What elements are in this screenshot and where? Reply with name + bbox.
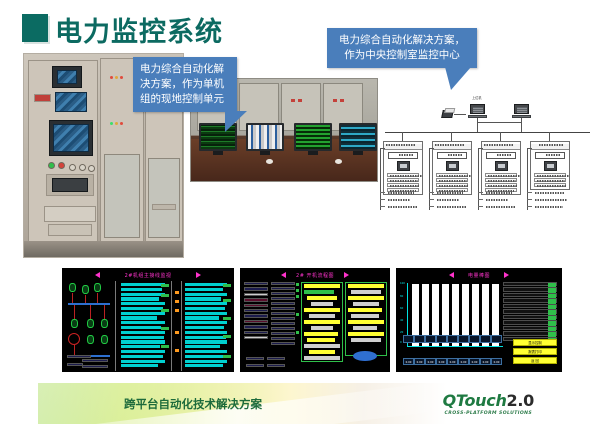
lcu-node <box>432 141 472 195</box>
qtouch-logo: QTouch2.0 CROSS-PLATFORM SOLUTIONS <box>443 391 534 416</box>
table-cell: 0.00 <box>403 358 414 365</box>
slide-canvas: 电力监控系统 <box>0 0 600 438</box>
display-control-button[interactable]: 显示控制 <box>513 339 557 346</box>
next-page-arrow-icon[interactable] <box>344 272 349 278</box>
printer-icon <box>441 110 454 118</box>
list-item <box>503 287 557 291</box>
slide-header: 电力监控系统 <box>0 6 600 46</box>
list-item <box>503 304 557 308</box>
page-title: 电力监控系统 <box>55 10 223 49</box>
host-computer-icon <box>468 104 487 118</box>
hmi-screen-bar-chart[interactable]: 电量棒图 100 80 60 40 20 0 <box>396 268 562 372</box>
chart-ytick: 80 <box>400 295 403 298</box>
list-item <box>503 298 557 302</box>
callout-local-text: 电力综合自动化解决方案，作为单机组的现地控制单元 <box>140 63 224 105</box>
hmi-mid-button[interactable] <box>246 357 264 360</box>
hmi-left-button[interactable] <box>67 355 91 358</box>
table-cell: 0.00 <box>447 358 458 365</box>
hmi-right-title: 电量棒图 <box>397 272 561 279</box>
callout-tail <box>225 111 247 132</box>
list-item <box>503 331 557 335</box>
list-item <box>503 282 557 286</box>
table-cell: 0.00 <box>469 358 480 365</box>
next-page-arrow-icon[interactable] <box>504 272 509 278</box>
list-item <box>503 320 557 324</box>
footer-tagline: 跨平台自动化技术解决方案 <box>124 396 262 412</box>
logo-tagline: CROSS-PLATFORM SOLUTIONS <box>443 411 534 416</box>
list-item <box>503 293 557 297</box>
hmi-mid-button[interactable] <box>267 357 285 360</box>
lcu-node <box>481 141 521 195</box>
logo-name: QTouch <box>443 391 507 410</box>
slide-footer: 跨平台自动化技术解决方案 QTouch2.0 CROSS-PLATFORM SO… <box>38 383 562 424</box>
chart-ytick: 100 <box>400 282 405 285</box>
hmi-mid-button[interactable] <box>246 364 264 367</box>
next-page-arrow-icon[interactable] <box>196 272 201 278</box>
table-cell: 0.00 <box>436 358 447 365</box>
operator-computer-icon <box>512 104 531 118</box>
title-accent-square <box>22 14 48 42</box>
callout-center-text: 电力综合自动化解决方案，作为中央控制室监控中心 <box>339 34 465 61</box>
table-cell: 0.00 <box>480 358 491 365</box>
hmi-left-button[interactable] <box>67 363 83 366</box>
chart-ytick: 40 <box>400 319 403 322</box>
table-cell: 0.00 <box>414 358 425 365</box>
table-cell: 0.00 <box>491 358 502 365</box>
report-print-button[interactable]: 报表打印 <box>513 348 557 355</box>
chart-ytick: 0 <box>400 341 402 344</box>
chart-ytick: 60 <box>400 307 403 310</box>
list-item <box>503 326 557 330</box>
status-list-panel <box>503 282 557 342</box>
return-button[interactable]: 返 回 <box>513 357 557 364</box>
hmi-mid-title: 2# 开机流程图 <box>241 272 389 279</box>
hmi-screen-single-line-diagram[interactable]: 2#机组主接线监视 <box>62 268 234 372</box>
measurement-table: 0.000.000.000.000.000.000.000.000.00 <box>403 328 502 367</box>
lcu-node <box>383 141 423 195</box>
hmi-mid-button[interactable] <box>267 364 285 367</box>
table-cell: 0.00 <box>425 358 436 365</box>
logo-wordmark: QTouch2.0 <box>443 391 534 410</box>
callout-local-control-unit: 电力综合自动化解决方案，作为单机组的现地控制单元 <box>133 57 237 112</box>
table-cell: 0.00 <box>458 358 469 365</box>
callout-central-control-room: 电力综合自动化解决方案，作为中央控制室监控中心 <box>327 28 477 68</box>
hmi-right-button-group: 显示控制 报表打印 返 回 <box>513 339 557 366</box>
topology-host-label: 上位机 <box>472 97 482 100</box>
callout-tail <box>445 67 471 90</box>
list-item <box>503 309 557 313</box>
logo-version: 2.0 <box>507 391 534 410</box>
list-item <box>503 315 557 319</box>
lcu-node <box>530 141 570 190</box>
hmi-screen-process-flow[interactable]: 2# 开机流程图 <box>240 268 390 372</box>
hmi-left-title: 2#机组主接线监视 <box>63 272 233 279</box>
network-topology-diagram: 上位机 <box>380 96 595 261</box>
